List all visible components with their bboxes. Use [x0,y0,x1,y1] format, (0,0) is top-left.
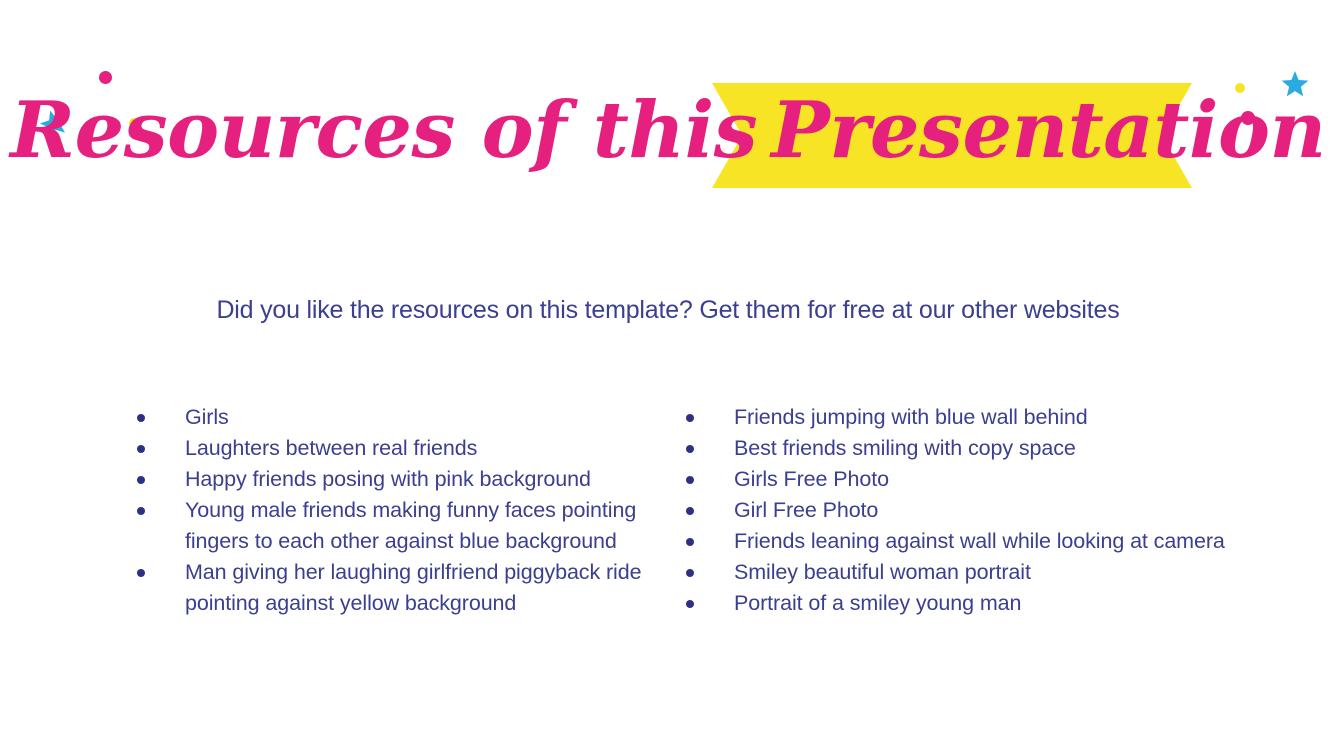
list-item-label: Girls Free Photo [734,467,889,491]
bullet-dot-icon [686,569,694,577]
slide-resources-of-this-presentation: Resources of thisPresentation Did you li… [0,0,1336,752]
list-item-label: Happy friends posing with pink backgroun… [185,467,591,491]
resource-list-left: GirlsLaughters between real friendsHappy… [128,402,696,619]
list-item: Smiley beautiful woman portrait [677,557,1245,588]
bullet-dot-icon [686,476,694,484]
list-item-label: Man giving her laughing girlfriend piggy… [185,560,641,615]
resource-column-right: Friends jumping with blue wall behindBes… [677,402,1245,619]
bullet-dot-icon [137,445,145,453]
resource-column-left: GirlsLaughters between real friendsHappy… [128,402,696,619]
title-area: Resources of thisPresentation [0,60,1336,210]
slide-subtitle: Did you like the resources on this templ… [0,296,1336,325]
bullet-dot-icon [686,600,694,608]
title-part-b: Presentation [771,85,1326,176]
list-item: Girls Free Photo [677,464,1245,495]
list-item-label: Smiley beautiful woman portrait [734,560,1031,584]
list-item: Best friends smiling with copy space [677,433,1245,464]
list-item-label: Best friends smiling with copy space [734,436,1076,460]
list-item: Friends jumping with blue wall behind [677,402,1245,433]
bullet-dot-icon [686,538,694,546]
resource-list-right: Friends jumping with blue wall behindBes… [677,402,1245,619]
title-part-a: Resources of this [10,85,757,176]
list-item: Man giving her laughing girlfriend piggy… [128,557,696,619]
list-item: Portrait of a smiley young man [677,588,1245,619]
list-item-label: Laughters between real friends [185,436,477,460]
list-item-label: Girls [185,405,229,429]
list-item: Young male friends making funny faces po… [128,495,696,557]
slide-title: Resources of thisPresentation [0,60,1336,210]
bullet-dot-icon [686,414,694,422]
list-item: Friends leaning against wall while looki… [677,526,1245,557]
list-item: Girls [128,402,696,433]
resource-columns: GirlsLaughters between real friendsHappy… [0,402,1336,619]
bullet-dot-icon [137,507,145,515]
list-item-label: Friends leaning against wall while looki… [734,529,1225,553]
list-item: Happy friends posing with pink backgroun… [128,464,696,495]
list-item-label: Friends jumping with blue wall behind [734,405,1088,429]
list-item-label: Girl Free Photo [734,498,878,522]
list-item-label: Portrait of a smiley young man [734,591,1021,615]
list-item: Girl Free Photo [677,495,1245,526]
bullet-dot-icon [137,414,145,422]
list-item-label: Young male friends making funny faces po… [185,498,636,553]
list-item: Laughters between real friends [128,433,696,464]
bullet-dot-icon [137,569,145,577]
bullet-dot-icon [686,445,694,453]
bullet-dot-icon [686,507,694,515]
bullet-dot-icon [137,476,145,484]
